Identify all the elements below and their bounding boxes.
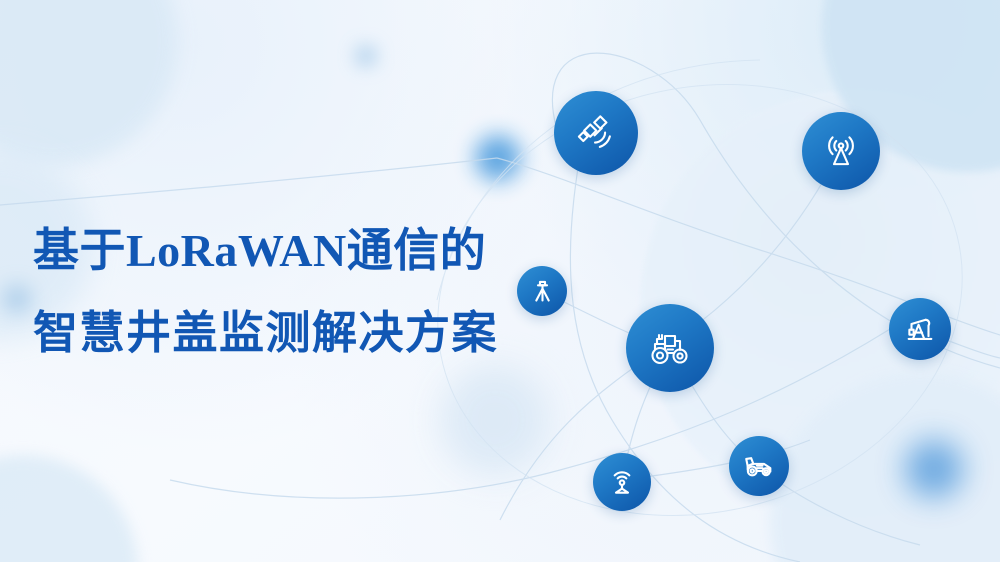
accent-dot-blue-upper [475, 135, 521, 181]
radio-tower-icon [820, 130, 862, 172]
background-blob-center-low [440, 365, 550, 475]
node-harvester-vehicle[interactable] [729, 436, 789, 496]
tractor-icon [646, 324, 694, 372]
accent-dot-small-top [355, 45, 377, 67]
node-wireless-beacon[interactable] [593, 453, 651, 511]
accent-dot-blue-lower [905, 440, 963, 498]
accent-dot-small-left [3, 285, 31, 313]
title-line-2: 智慧井盖监测解决方案 [33, 310, 498, 355]
oil-pumpjack-icon [903, 312, 937, 346]
slide-canvas: 基于LoRaWAN通信的 智慧井盖监测解决方案 [0, 0, 1000, 562]
wireless-beacon-icon [606, 466, 638, 498]
node-satellite[interactable] [554, 91, 638, 175]
satellite-dish-icon [573, 110, 619, 156]
survey-tripod-icon [529, 278, 556, 305]
node-survey-tripod[interactable] [517, 266, 567, 316]
background-blob-bottom-right [770, 372, 1000, 562]
background-blob-top-left [0, 0, 178, 166]
node-tractor[interactable] [626, 304, 714, 392]
title-block: 基于LoRaWAN通信的 智慧井盖监测解决方案 [33, 228, 498, 355]
node-radio-tower[interactable] [802, 112, 880, 190]
title-line-1: 基于LoRaWAN通信的 [33, 228, 498, 274]
background-blob-bottom-left [0, 455, 138, 562]
harvester-vehicle-icon [742, 449, 776, 483]
node-oil-pumpjack[interactable] [889, 298, 951, 360]
